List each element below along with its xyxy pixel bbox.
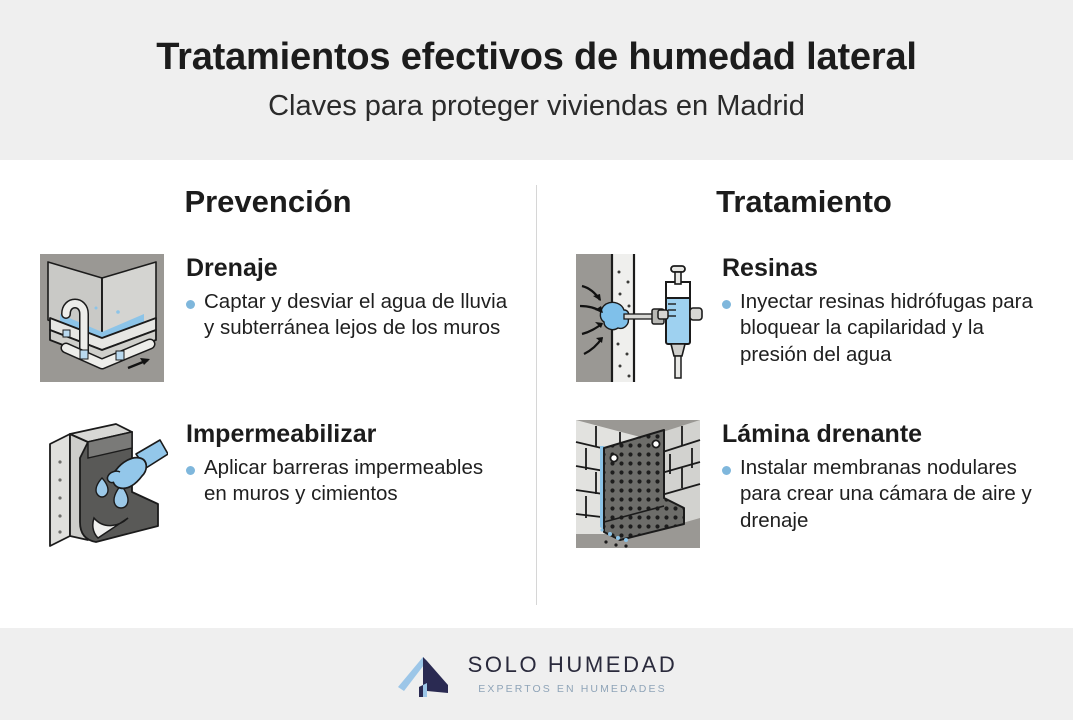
column-tratamiento: Tratamiento (536, 184, 1072, 628)
bullet-dot-icon (722, 466, 731, 475)
bullet-row-impermeabilizar: Aplicar barreras impermeables en muros y… (186, 455, 510, 508)
item-title-lamina-drenante: Lámina drenante (722, 420, 1046, 449)
item-text-resinas: Resinas Inyectar resinas hidrófugas para… (722, 248, 1046, 369)
column-divider (536, 185, 537, 605)
item-title-resinas: Resinas (722, 254, 1046, 283)
brand-tagline: EXPERTOS EN HUMEDADES (478, 683, 666, 695)
bullet-dot-icon (722, 300, 731, 309)
content-area: Prevención (0, 160, 1073, 628)
footer-logo-text: SOLO HUMEDAD EXPERTOS EN HUMEDADES (468, 653, 678, 694)
resin-injection-syringe-icon (572, 248, 704, 388)
item-title-drenaje: Drenaje (186, 254, 510, 283)
bullet-dot-icon (186, 466, 195, 475)
header-band: Tratamientos efectivos de humedad latera… (0, 0, 1073, 160)
item-description-lamina-drenante: Instalar membranas nodulares para crear … (740, 455, 1046, 535)
item-text-lamina-drenante: Lámina drenante Instalar membranas nodul… (722, 414, 1046, 535)
bullet-row-drenaje: Captar y desviar el agua de lluvia y sub… (186, 289, 510, 342)
waterproofing-membrane-hand-icon (36, 414, 168, 554)
item-description-impermeabilizar: Aplicar barreras impermeables en muros y… (204, 455, 510, 508)
item-text-impermeabilizar: Impermeabilizar Aplicar barreras imperme… (186, 414, 510, 508)
item-title-impermeabilizar: Impermeabilizar (186, 420, 510, 449)
item-impermeabilizar: Impermeabilizar Aplicar barreras imperme… (26, 414, 510, 554)
footer-band: SOLO HUMEDAD EXPERTOS EN HUMEDADES (0, 628, 1073, 720)
page-title: Tratamientos efectivos de humedad latera… (156, 37, 917, 79)
item-text-drenaje: Drenaje Captar y desviar el agua de lluv… (186, 248, 510, 342)
item-lamina-drenante: Lámina drenante Instalar membranas nodul… (562, 414, 1046, 554)
solo-humedad-roof-logo-icon (396, 649, 454, 699)
item-drenaje: Drenaje Captar y desviar el agua de lluv… (26, 248, 510, 388)
item-description-drenaje: Captar y desviar el agua de lluvia y sub… (204, 289, 510, 342)
bullet-dot-icon (186, 300, 195, 309)
bullet-row-lamina-drenante: Instalar membranas nodulares para crear … (722, 455, 1046, 535)
drainage-pipe-corner-icon (36, 248, 168, 388)
infographic-poster: Tratamientos efectivos de humedad latera… (0, 0, 1073, 720)
column-prevencion: Prevención (0, 184, 536, 628)
item-resinas: Resinas Inyectar resinas hidrófugas para… (562, 248, 1046, 388)
page-subtitle: Claves para proteger viviendas en Madrid (268, 90, 805, 123)
column-heading-prevencion: Prevención (26, 184, 510, 220)
dimpled-drainage-membrane-icon (572, 414, 704, 554)
bullet-row-resinas: Inyectar resinas hidrófugas para bloquea… (722, 289, 1046, 369)
brand-name: SOLO HUMEDAD (468, 653, 678, 677)
column-heading-tratamiento: Tratamiento (562, 184, 1046, 220)
item-description-resinas: Inyectar resinas hidrófugas para bloquea… (740, 289, 1046, 369)
